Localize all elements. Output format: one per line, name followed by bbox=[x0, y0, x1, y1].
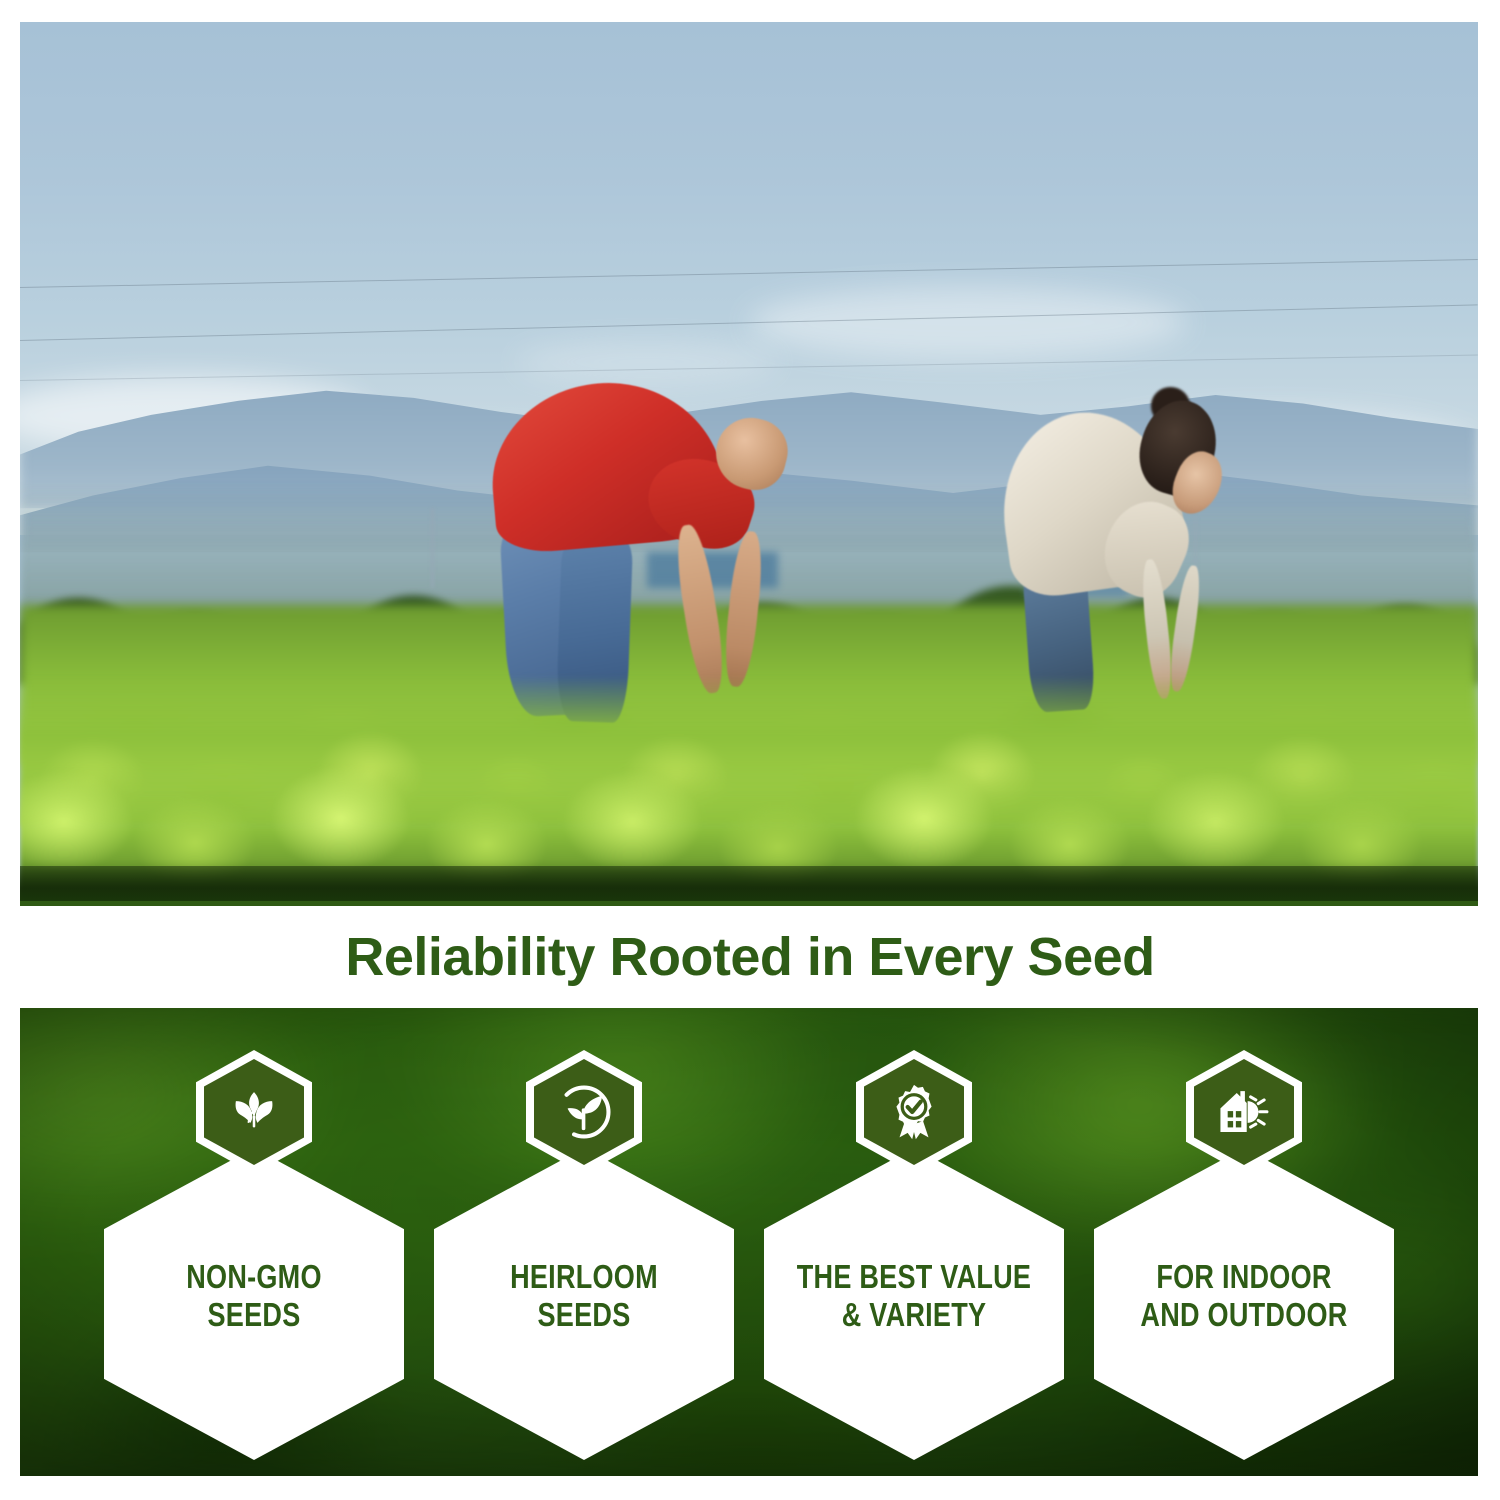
badge-label-line1: THE BEST VALUE bbox=[797, 1258, 1031, 1295]
utility-pole bbox=[431, 508, 434, 588]
product-infographic: Reliability Rooted in Every Seed bbox=[0, 0, 1500, 1500]
award-rosette-check-icon bbox=[885, 1083, 943, 1141]
leaf-sprig-icon bbox=[225, 1083, 283, 1141]
badge-label-line1: HEIRLOOM bbox=[510, 1258, 658, 1295]
photo-bottom-strip bbox=[20, 866, 1478, 906]
sprout-in-circle-icon bbox=[555, 1083, 613, 1141]
badge-non-gmo-seeds[interactable]: NON-GMO SEEDS bbox=[98, 1020, 410, 1476]
arm bbox=[1167, 564, 1204, 693]
badge-label-line2: SEEDS bbox=[126, 1296, 382, 1334]
badge-label: HEIRLOOM SEEDS bbox=[456, 1258, 712, 1333]
cloud bbox=[749, 287, 1186, 358]
farmer-woman-in-cream-shirt bbox=[997, 393, 1245, 711]
hero-photo-farmers-in-field bbox=[20, 22, 1478, 906]
badge-label-line1: FOR INDOOR bbox=[1156, 1258, 1331, 1295]
badge-label-line2: AND OUTDOOR bbox=[1116, 1296, 1372, 1334]
badge-label: NON-GMO SEEDS bbox=[126, 1258, 382, 1333]
headline-band: Reliability Rooted in Every Seed bbox=[0, 906, 1500, 1008]
badge-best-value-variety[interactable]: THE BEST VALUE & VARIETY bbox=[758, 1020, 1070, 1476]
badge-label: FOR INDOOR AND OUTDOOR bbox=[1116, 1258, 1372, 1333]
greenhouse-sun-icon bbox=[1215, 1083, 1273, 1141]
badge-indoor-outdoor[interactable]: FOR INDOOR AND OUTDOOR bbox=[1088, 1020, 1400, 1476]
badge-label-line2: & VARIETY bbox=[786, 1296, 1042, 1334]
badge-label-line1: NON-GMO bbox=[186, 1258, 322, 1295]
badge-heirloom-seeds[interactable]: HEIRLOOM SEEDS bbox=[428, 1020, 740, 1476]
badge-label: THE BEST VALUE & VARIETY bbox=[786, 1258, 1042, 1333]
page-title: Reliability Rooted in Every Seed bbox=[345, 926, 1154, 988]
arm bbox=[721, 530, 766, 688]
badge-row: NON-GMO SEEDS bbox=[20, 1008, 1478, 1476]
badge-label-line2: SEEDS bbox=[456, 1296, 712, 1334]
feature-badge-panel: NON-GMO SEEDS bbox=[20, 1008, 1478, 1476]
